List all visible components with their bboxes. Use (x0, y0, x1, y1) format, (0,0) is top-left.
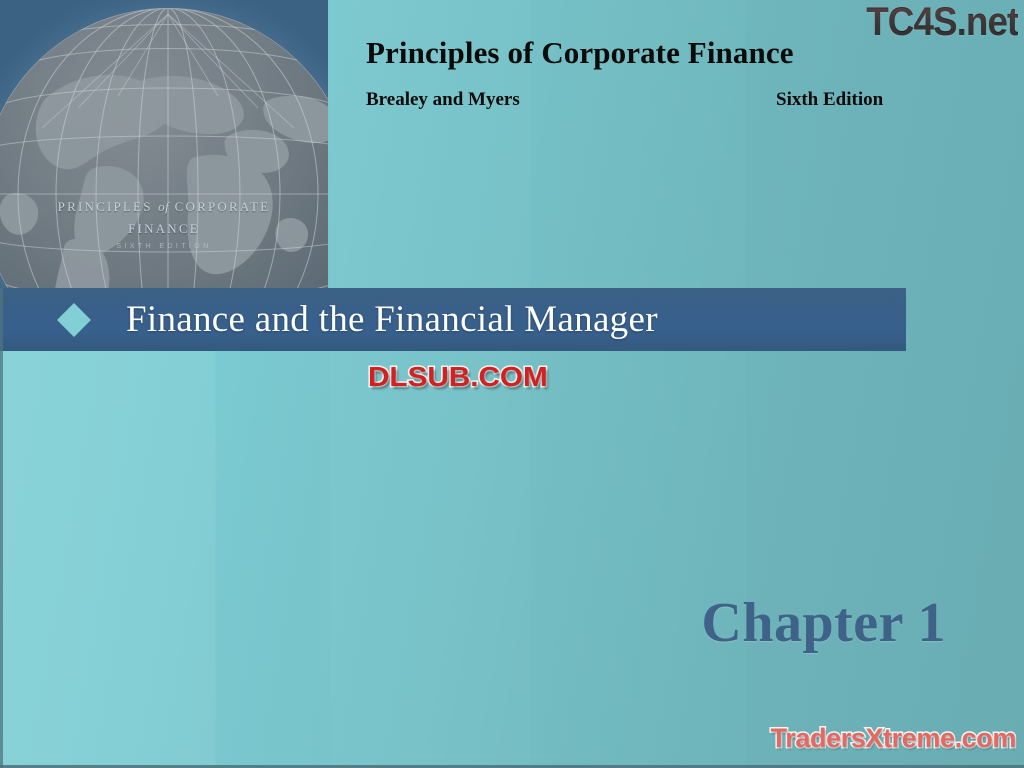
chapter-title-bar: Finance and the Financial Manager (0, 288, 906, 351)
watermark-tradersxtreme: TradersXtreme.com (771, 723, 1016, 754)
chapter-title: Finance and the Financial Manager (126, 300, 658, 340)
presentation-slide: PRINCIPLES of CORPORATE FINANCE SIXTH ED… (0, 0, 1024, 768)
byline-row: Brealey and Myers Sixth Edition (366, 89, 966, 113)
edition-label: Sixth Edition (776, 89, 883, 111)
watermark-dlsub: DLSUB.COM (368, 361, 548, 393)
left-edge-border (0, 288, 3, 768)
cover-title-line1: PRINCIPLES of CORPORATE (58, 199, 271, 214)
book-cover-image: PRINCIPLES of CORPORATE FINANCE SIXTH ED… (0, 0, 328, 288)
header-block: Principles of Corporate Finance Brealey … (366, 36, 966, 113)
diamond-bullet-icon (57, 303, 91, 337)
cover-title-line2: FINANCE (128, 221, 200, 236)
authors-label: Brealey and Myers (366, 89, 520, 111)
watermark-tc4s: TC4S.net (866, 0, 1018, 44)
chapter-number: Chapter 1 (0, 592, 946, 654)
cover-edition-text: SIXTH EDITION (0, 243, 328, 250)
cover-title-text: PRINCIPLES of CORPORATE FINANCE (0, 196, 328, 240)
